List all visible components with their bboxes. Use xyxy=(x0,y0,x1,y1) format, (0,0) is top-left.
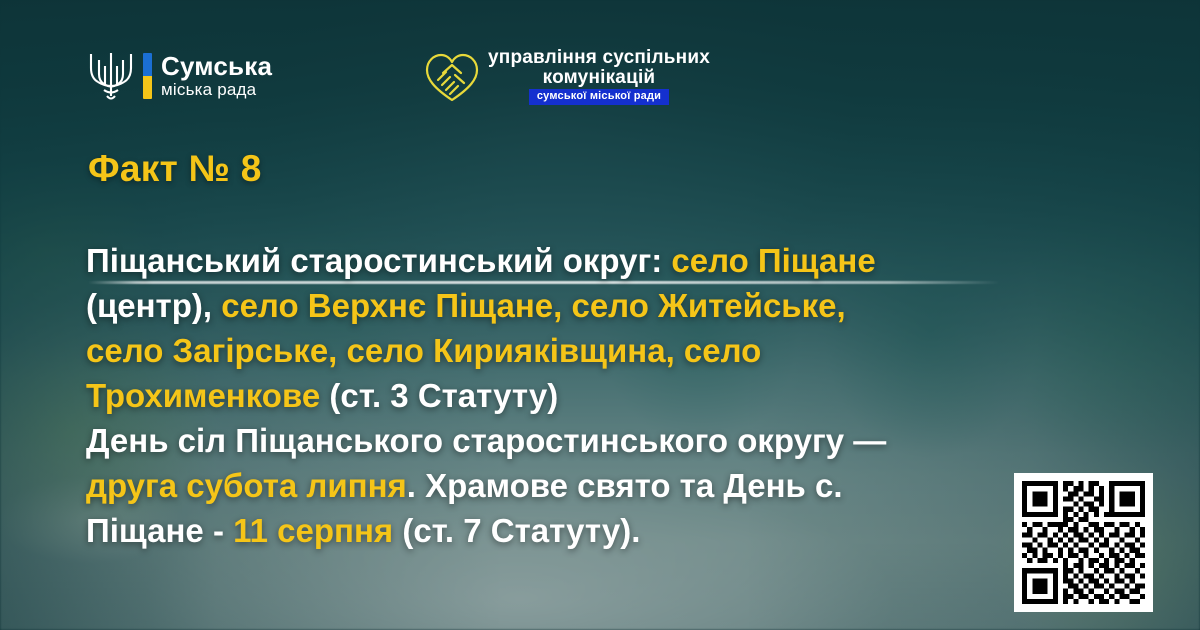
text-segment: (центр), xyxy=(86,287,221,324)
highlighted-text-segment: друга субота липня xyxy=(86,467,407,504)
department-logo-line2: комунікацій xyxy=(543,68,656,88)
heart-handshake-icon xyxy=(424,52,480,104)
highlighted-text-segment: село Піщане xyxy=(671,242,875,279)
header: Сумська міська рада управління суспільни… xyxy=(0,0,1200,130)
department-logo-badge: сумської міської ради xyxy=(529,89,669,105)
council-logo-line2: міська рада xyxy=(161,81,272,99)
trident-icon xyxy=(88,50,134,102)
highlighted-text-segment: 11 серпня xyxy=(233,512,393,549)
ukraine-flag-bar-icon xyxy=(143,53,152,99)
council-logo-line1: Сумська xyxy=(161,53,272,81)
council-logo-text: Сумська міська рада xyxy=(161,53,272,99)
page-title: Факт № 8 xyxy=(88,148,262,190)
sumy-city-council-logo: Сумська міська рада xyxy=(88,50,272,102)
department-logo-line1: управління суспільних xyxy=(488,48,710,68)
communications-department-logo: управління суспільних комунікацій сумськ… xyxy=(424,48,710,105)
text-segment: (ст. 7 Статуту). xyxy=(393,512,640,549)
qr-code[interactable] xyxy=(1014,473,1153,612)
text-segment: Піщанський старостинський округ: xyxy=(86,242,671,279)
fact-body-text: Піщанський старостинський округ: село Пі… xyxy=(86,238,1076,553)
department-logo-text: управління суспільних комунікацій сумськ… xyxy=(488,48,710,105)
